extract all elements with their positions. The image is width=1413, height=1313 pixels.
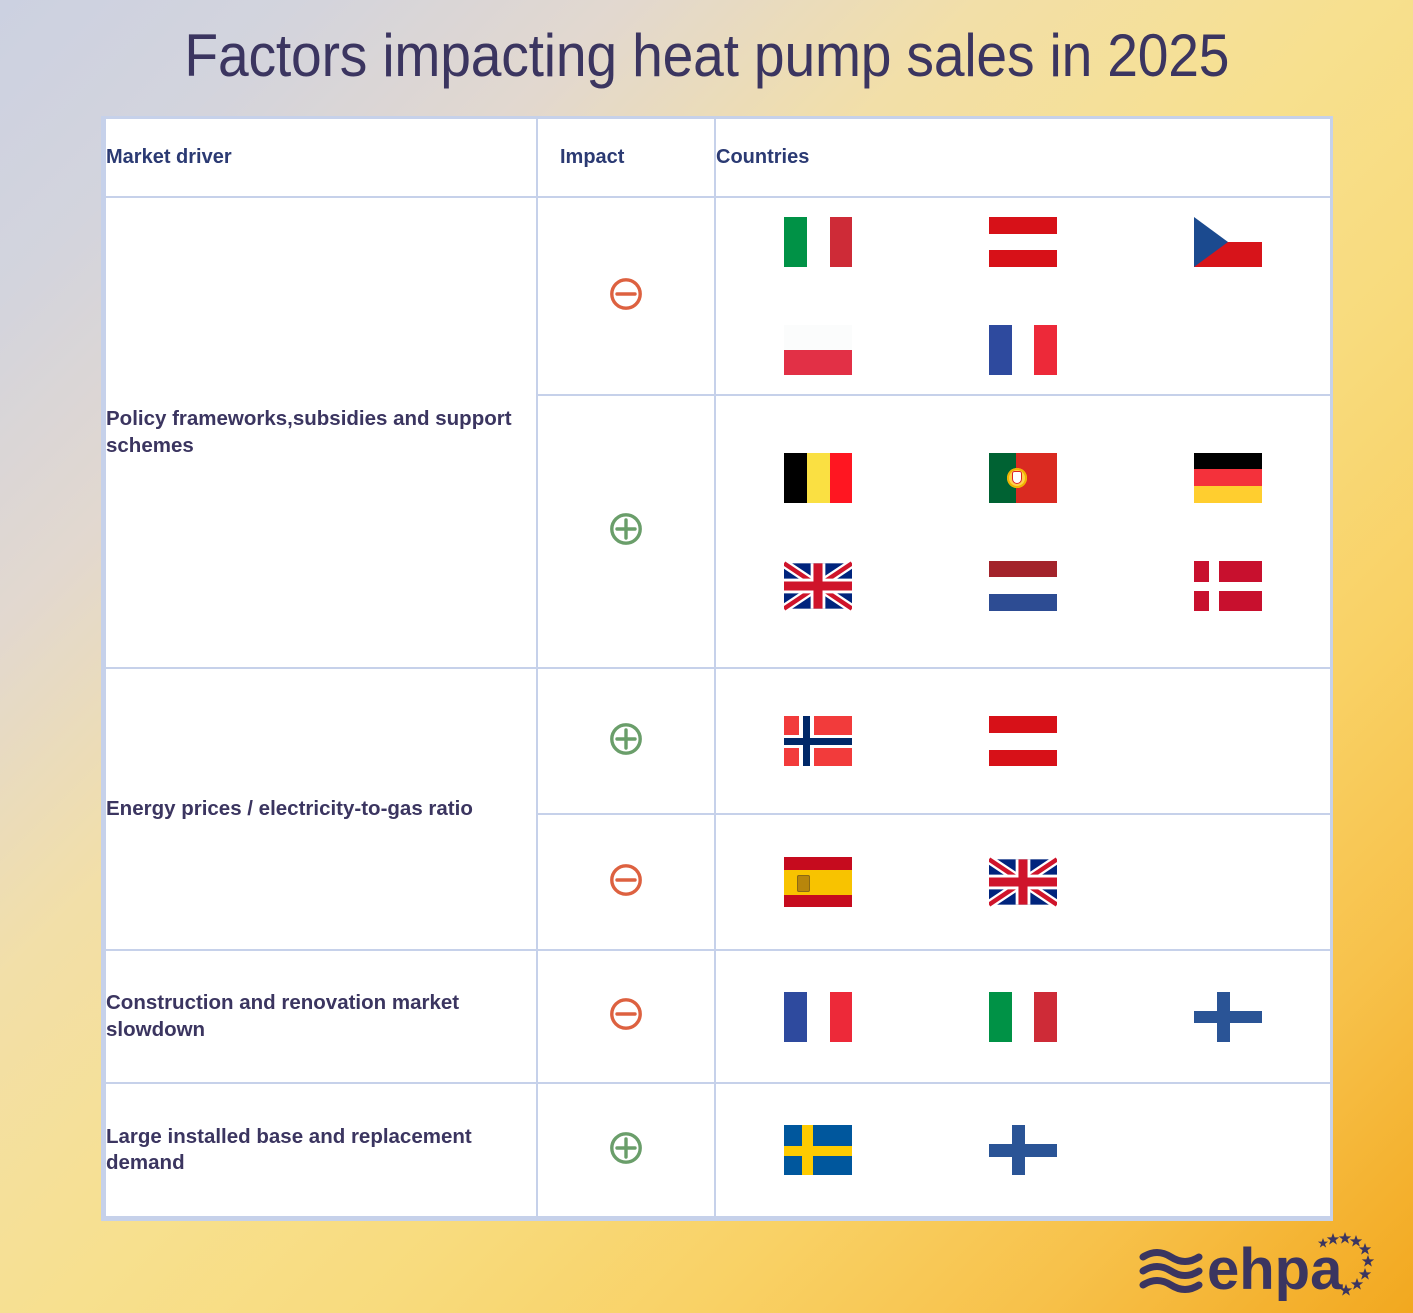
logo-wordmark: ehpa	[1207, 1237, 1343, 1302]
countries-cell	[715, 395, 1331, 668]
countries-cell	[715, 814, 1331, 950]
country-flag-item	[1125, 992, 1330, 1042]
country-flag-item	[716, 992, 921, 1042]
flag-at-icon	[989, 217, 1057, 267]
country-flag-item	[1125, 453, 1330, 503]
market-driver-cell: Large installed base and replacement dem…	[105, 1083, 537, 1217]
column-header-countries: Countries	[715, 119, 1331, 197]
ehpa-logo-svg: ehpa	[1137, 1227, 1377, 1305]
flag-fi-icon	[989, 1125, 1057, 1175]
countries-cell	[715, 197, 1331, 395]
countries-cell	[715, 950, 1331, 1083]
country-flag-item	[716, 857, 921, 907]
country-flag-item	[921, 716, 1126, 766]
countries-cell	[715, 1083, 1331, 1217]
circle-minus-icon	[604, 992, 648, 1036]
flag-grid	[716, 992, 1330, 1042]
market-driver-label: Policy frameworks,subsidies and support …	[106, 406, 536, 459]
flag-gb-icon	[989, 857, 1057, 907]
table-row: Construction and renovation market slowd…	[105, 950, 1331, 1083]
countries-cell	[715, 668, 1331, 814]
country-flag-item	[716, 1125, 921, 1175]
flag-grid	[716, 1125, 1330, 1175]
country-flag-item	[1125, 217, 1330, 267]
flag-be-icon	[784, 453, 852, 503]
flag-no-icon	[784, 716, 852, 766]
circle-plus-icon	[604, 717, 648, 761]
table: Market driver Impact Countries Policy fr…	[104, 119, 1332, 1218]
flag-grid	[716, 217, 1330, 375]
page-title: Factors impacting heat pump sales in 202…	[184, 21, 1229, 90]
ehpa-logo: ehpa	[1137, 1227, 1377, 1305]
market-driver-cell: Energy prices / electricity-to-gas ratio	[105, 668, 537, 950]
impact-cell	[537, 814, 715, 950]
flag-it-icon	[989, 992, 1057, 1042]
circle-minus-icon	[604, 272, 648, 316]
country-flag-item	[921, 561, 1126, 611]
country-flag-item	[921, 453, 1126, 503]
market-driver-label: Energy prices / electricity-to-gas ratio	[106, 796, 536, 823]
table-row: Energy prices / electricity-to-gas ratio	[105, 668, 1331, 814]
impact-cell	[537, 197, 715, 395]
country-flag-item	[716, 325, 921, 375]
flag-nl-icon	[989, 561, 1057, 611]
market-driver-label: Large installed base and replacement dem…	[106, 1124, 536, 1177]
country-flag-item	[716, 561, 921, 611]
circle-minus-icon	[604, 858, 648, 902]
column-header-market-driver: Market driver	[105, 119, 537, 197]
country-flag-item	[921, 325, 1126, 375]
country-flag-item	[921, 217, 1126, 267]
country-flag-item	[716, 217, 921, 267]
flag-de-icon	[1194, 453, 1262, 503]
table-header-row: Market driver Impact Countries	[105, 119, 1331, 197]
flag-gb-icon	[784, 561, 852, 611]
country-flag-item	[921, 857, 1126, 907]
flag-grid	[716, 716, 1330, 766]
impact-cell	[537, 1083, 715, 1217]
flag-es-icon	[784, 857, 852, 907]
impact-cell	[537, 668, 715, 814]
flag-fr-icon	[989, 325, 1057, 375]
country-flag-item	[716, 453, 921, 503]
impact-cell	[537, 950, 715, 1083]
flag-grid	[716, 857, 1330, 907]
flag-grid	[716, 453, 1330, 611]
flag-se-icon	[784, 1125, 852, 1175]
circle-plus-icon	[604, 507, 648, 551]
country-flag-item	[921, 1125, 1126, 1175]
table-row: Large installed base and replacement dem…	[105, 1083, 1331, 1217]
factors-table: Market driver Impact Countries Policy fr…	[101, 116, 1333, 1221]
market-driver-cell: Policy frameworks,subsidies and support …	[105, 197, 537, 668]
flag-cz-icon	[1194, 217, 1262, 267]
country-flag-item	[1125, 561, 1330, 611]
impact-cell	[537, 395, 715, 668]
table-row: Policy frameworks,subsidies and support …	[105, 197, 1331, 395]
flag-it-icon	[784, 217, 852, 267]
market-driver-cell: Construction and renovation market slowd…	[105, 950, 537, 1083]
flag-pl-icon	[784, 325, 852, 375]
waves-icon	[1143, 1253, 1199, 1290]
circle-plus-icon	[604, 1126, 648, 1170]
flag-at-icon	[989, 716, 1057, 766]
market-driver-label: Construction and renovation market slowd…	[106, 990, 536, 1043]
flag-dk-icon	[1194, 561, 1262, 611]
flag-fr-icon	[784, 992, 852, 1042]
title-bar: Factors impacting heat pump sales in 202…	[0, 0, 1413, 110]
country-flag-item	[921, 992, 1126, 1042]
country-flag-item	[716, 716, 921, 766]
table-body: Policy frameworks,subsidies and support …	[105, 197, 1331, 1217]
column-header-impact: Impact	[537, 119, 715, 197]
flag-fi-icon	[1194, 992, 1262, 1042]
flag-pt-icon	[989, 453, 1057, 503]
